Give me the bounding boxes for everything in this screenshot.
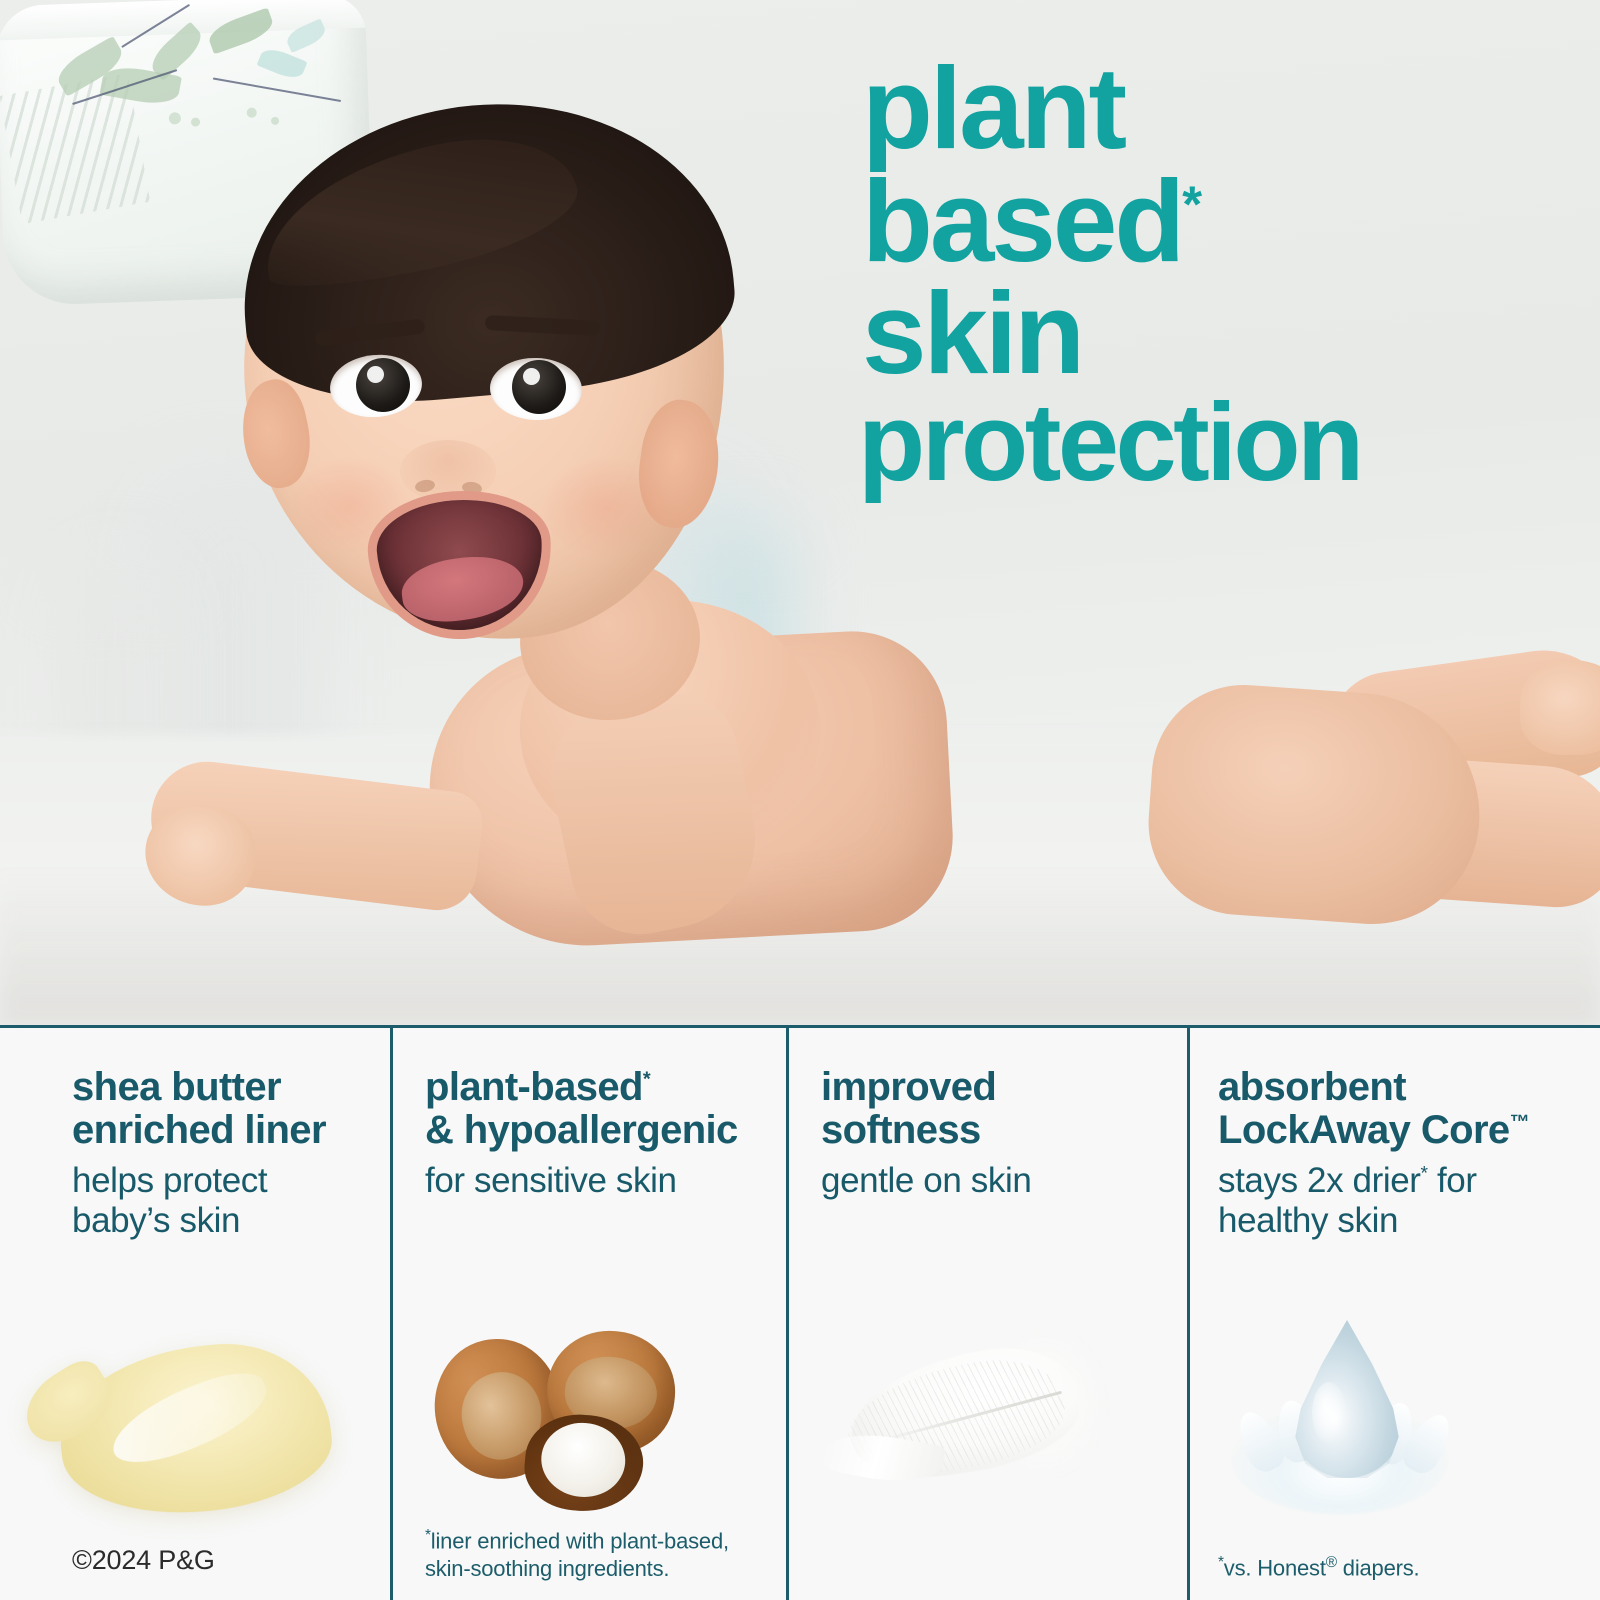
headline-line-4: protection xyxy=(858,390,1582,497)
diaper-leaf-print xyxy=(257,45,308,83)
water-drop-group xyxy=(1226,1314,1456,1514)
baby-right-iris xyxy=(512,360,566,414)
trademark-marker: ™ xyxy=(1510,1112,1529,1134)
headline-line-3: skin xyxy=(862,277,1582,390)
feature-subtitle: helps protect baby’s skin xyxy=(72,1161,366,1241)
baby-foot xyxy=(1520,660,1600,755)
hero-banner: plant based* skin protection xyxy=(0,0,1600,1025)
feature-column-softness: improved softness gentle on skin xyxy=(786,1028,1187,1600)
registered-trademark-marker: ® xyxy=(1326,1554,1337,1571)
shea-nuts-group xyxy=(429,1323,679,1508)
feature-column-plant-based: plant-based* & hypoallergenic for sensit… xyxy=(390,1028,786,1600)
butter-swatch-shape xyxy=(52,1333,338,1525)
baby-nose xyxy=(400,440,496,502)
feature-panel: shea butter enriched liner helps protect… xyxy=(0,1025,1600,1600)
feather-image xyxy=(789,1304,1187,1504)
honest-comparison-footnote: *vs. Honest® diapers. xyxy=(1218,1553,1419,1582)
feature-column-shea-butter: shea butter enriched liner helps protect… xyxy=(0,1028,390,1600)
butter-swatch-image xyxy=(0,1304,390,1504)
diaper-dot-print xyxy=(271,117,279,125)
asterisk-marker: * xyxy=(1421,1164,1428,1185)
hero-headline: plant based* skin protection xyxy=(862,52,1582,496)
baby-right-cheek xyxy=(540,455,670,560)
baby-left-iris xyxy=(356,358,410,412)
asterisk-marker: * xyxy=(643,1069,650,1091)
diaper-dot-print xyxy=(191,117,200,126)
water-drop-image xyxy=(1190,1304,1600,1504)
feature-subtitle: for sensitive skin xyxy=(425,1161,768,1201)
water-droplet xyxy=(1292,1320,1402,1478)
baby-left-eye-highlight xyxy=(367,366,384,383)
feature-column-lockaway-core: absorbent LockAway Core™ stays 2x drier*… xyxy=(1187,1028,1600,1600)
feature-title: absorbent LockAway Core™ xyxy=(1218,1066,1582,1152)
feature-title: plant-based* & hypoallergenic xyxy=(425,1066,768,1152)
feature-subtitle: stays 2x drier* for healthy skin xyxy=(1218,1161,1582,1241)
feature-subtitle: gentle on skin xyxy=(821,1161,1169,1201)
feature-title: shea butter enriched liner xyxy=(72,1066,366,1152)
feather-shape xyxy=(809,1320,1109,1510)
feature-columns: shea butter enriched liner helps protect… xyxy=(0,1028,1600,1600)
asterisk-marker: * xyxy=(1182,175,1202,232)
copyright-notice: ©2024 P&G xyxy=(72,1544,215,1578)
headline-line-1: plant xyxy=(862,52,1582,165)
diaper-branch-print xyxy=(213,77,341,102)
shea-nuts-image xyxy=(393,1304,786,1504)
headline-line-2: based* xyxy=(862,165,1582,278)
feature-title: improved softness xyxy=(821,1066,1169,1152)
diaper-dot-print xyxy=(169,112,181,124)
diaper-dot-print xyxy=(247,107,257,117)
liner-footnote: *liner enriched with plant-based, skin-s… xyxy=(425,1526,729,1582)
baby-right-eye-highlight xyxy=(523,368,540,385)
